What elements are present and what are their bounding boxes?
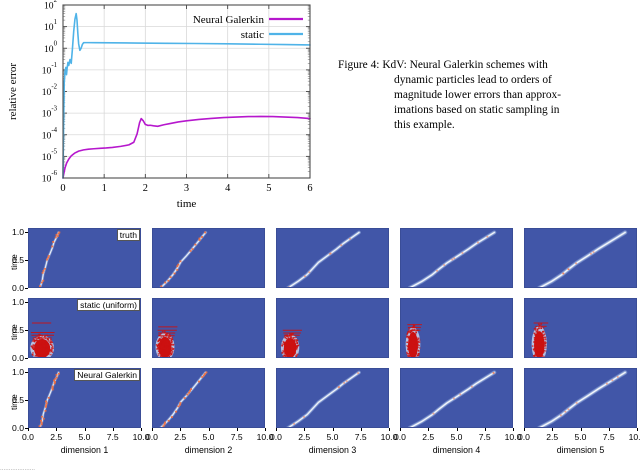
svg-text:10-5: 10-5 bbox=[42, 148, 58, 163]
panel-xlabel-col-4: dimension 4 bbox=[397, 445, 517, 455]
caption-line-1: KdV: Neural Galerkin schemes with bbox=[382, 59, 548, 71]
panel-xlabel-col-5: dimension 5 bbox=[521, 445, 640, 455]
svg-text:10-4: 10-4 bbox=[42, 126, 58, 141]
panel-xtick: 7.5 bbox=[470, 432, 500, 442]
panel-row-label-3: Neural Galerkin bbox=[74, 369, 140, 381]
panel-row-label-2: static (uniform) bbox=[77, 299, 140, 311]
panel-xtick: 7.5 bbox=[594, 432, 624, 442]
panel-xtick: 2.5 bbox=[537, 432, 567, 442]
panel-xtick: 2.5 bbox=[289, 432, 319, 442]
panel-xlabel-col-3: dimension 3 bbox=[273, 445, 393, 455]
panel-xtick-mark bbox=[637, 428, 638, 431]
panel-ytick-mark bbox=[25, 288, 28, 289]
heatmap-panel-r2-c3 bbox=[276, 298, 389, 358]
svg-text:102: 102 bbox=[44, 0, 58, 12]
panel-xtick-mark bbox=[485, 428, 486, 431]
panel-xtick: 7.5 bbox=[346, 432, 376, 442]
heatmap-panel-r2-c5 bbox=[524, 298, 637, 358]
svg-text:10-3: 10-3 bbox=[42, 105, 58, 120]
panel-xtick-mark bbox=[237, 428, 238, 431]
panel-xtick-mark bbox=[400, 428, 401, 431]
panel-xtick: 2.5 bbox=[413, 432, 443, 442]
caption-line-2: dynamic particles lead to orders of bbox=[394, 73, 634, 88]
panel-xtick-mark bbox=[56, 428, 57, 431]
chart-xlabel: time bbox=[177, 198, 197, 210]
heatmap-panel-r3-c4 bbox=[400, 368, 513, 428]
svg-text:6: 6 bbox=[307, 183, 312, 194]
panel-xtick: 0.0 bbox=[509, 432, 539, 442]
panel-xtick-mark bbox=[513, 428, 514, 431]
panel-xtick-mark bbox=[180, 428, 181, 431]
svg-text:2: 2 bbox=[143, 183, 148, 194]
svg-text:10-2: 10-2 bbox=[42, 83, 58, 98]
svg-text:10-6: 10-6 bbox=[42, 170, 58, 185]
heatmap-panel-r3-c5 bbox=[524, 368, 637, 428]
panel-row-label-1: truth bbox=[117, 229, 140, 241]
svg-text:4: 4 bbox=[225, 183, 231, 194]
panel-xtick: 5.0 bbox=[194, 432, 224, 442]
panel-ytick: 1.0 bbox=[0, 227, 24, 237]
svg-text:5: 5 bbox=[266, 183, 271, 194]
heatmap-panel-r1-c2 bbox=[152, 228, 265, 288]
heatmap-panel-r2-c4 bbox=[400, 298, 513, 358]
panel-xtick: 2.5 bbox=[165, 432, 195, 442]
panel-xtick: 10.0 bbox=[622, 432, 640, 442]
panel-xtick-mark bbox=[304, 428, 305, 431]
panel-xtick: 5.0 bbox=[70, 432, 100, 442]
relative-error-chart: 10210110010-110-210-310-410-510-60123456… bbox=[0, 0, 320, 215]
svg-text:100: 100 bbox=[44, 40, 58, 55]
panel-xtick: 0.0 bbox=[137, 432, 167, 442]
panel-xtick-mark bbox=[113, 428, 114, 431]
panel-ytick: 0.0 bbox=[0, 353, 24, 363]
heatmap-panel-r3-c3 bbox=[276, 368, 389, 428]
panel-ytick-mark bbox=[25, 358, 28, 359]
heatmap-panel-r2-c2 bbox=[152, 298, 265, 358]
panel-xtick: 5.0 bbox=[442, 432, 472, 442]
panel-xtick: 0.0 bbox=[13, 432, 43, 442]
heatmap-panel-r1-c5 bbox=[524, 228, 637, 288]
panel-ytick: 1.0 bbox=[0, 367, 24, 377]
heatmap-panel-r1-c3 bbox=[276, 228, 389, 288]
heatmap-panel-r1-c4 bbox=[400, 228, 513, 288]
panel-xtick-mark bbox=[28, 428, 29, 431]
legend-label-1: Neural Galerkin bbox=[193, 14, 265, 26]
panel-xtick-mark bbox=[389, 428, 390, 431]
panel-xtick-mark bbox=[609, 428, 610, 431]
panel-xtick: 2.5 bbox=[41, 432, 71, 442]
legend-label-2: static bbox=[241, 29, 264, 41]
panel-xlabel-col-1: dimension 1 bbox=[25, 445, 145, 455]
panel-xlabel-col-2: dimension 2 bbox=[149, 445, 269, 455]
panel-ytick: 0.5 bbox=[0, 255, 24, 265]
figure-root: 10210110010-110-210-310-410-510-60123456… bbox=[0, 0, 640, 472]
svg-text:101: 101 bbox=[44, 18, 57, 33]
panel-ytick: 0.0 bbox=[0, 283, 24, 293]
panel-xtick-mark bbox=[276, 428, 277, 431]
svg-text:10-1: 10-1 bbox=[42, 62, 57, 77]
panel-xtick: 7.5 bbox=[98, 432, 128, 442]
panel-xtick-mark bbox=[428, 428, 429, 431]
panel-xtick-mark bbox=[265, 428, 266, 431]
panel-xtick: 0.0 bbox=[385, 432, 415, 442]
panel-xtick-mark bbox=[152, 428, 153, 431]
caption-line-5: this example. bbox=[394, 118, 634, 133]
caption-label: Figure 4: bbox=[338, 59, 379, 71]
svg-text:0: 0 bbox=[60, 183, 65, 194]
panel-xtick: 5.0 bbox=[318, 432, 348, 442]
panel-xtick-mark bbox=[581, 428, 582, 431]
panel-xtick: 7.5 bbox=[222, 432, 252, 442]
figure-caption: Figure 4: KdV: Neural Galerkin schemes w… bbox=[338, 58, 634, 133]
chart-ylabel: relative error bbox=[7, 63, 19, 120]
heatmap-panel-r3-c2 bbox=[152, 368, 265, 428]
panel-ytick: 0.5 bbox=[0, 325, 24, 335]
panel-xtick-mark bbox=[209, 428, 210, 431]
panel-ytick: 0.5 bbox=[0, 395, 24, 405]
panel-xtick-mark bbox=[85, 428, 86, 431]
panel-xtick-mark bbox=[457, 428, 458, 431]
svg-text:1: 1 bbox=[102, 183, 107, 194]
caption-line-3: magnitude lower errors than approx- bbox=[394, 88, 634, 103]
panel-xtick-mark bbox=[524, 428, 525, 431]
panel-xtick-mark bbox=[552, 428, 553, 431]
caption-line-4: imations based on static sampling in bbox=[394, 103, 634, 118]
panel-xtick: 0.0 bbox=[261, 432, 291, 442]
solution-panel-grid: time1.00.50.0truthtime1.00.50.0static (u… bbox=[0, 215, 640, 465]
panel-xtick: 5.0 bbox=[566, 432, 596, 442]
panel-xtick-mark bbox=[333, 428, 334, 431]
svg-text:3: 3 bbox=[184, 183, 189, 194]
panel-ytick: 1.0 bbox=[0, 297, 24, 307]
panel-xtick-mark bbox=[141, 428, 142, 431]
panel-xtick-mark bbox=[361, 428, 362, 431]
